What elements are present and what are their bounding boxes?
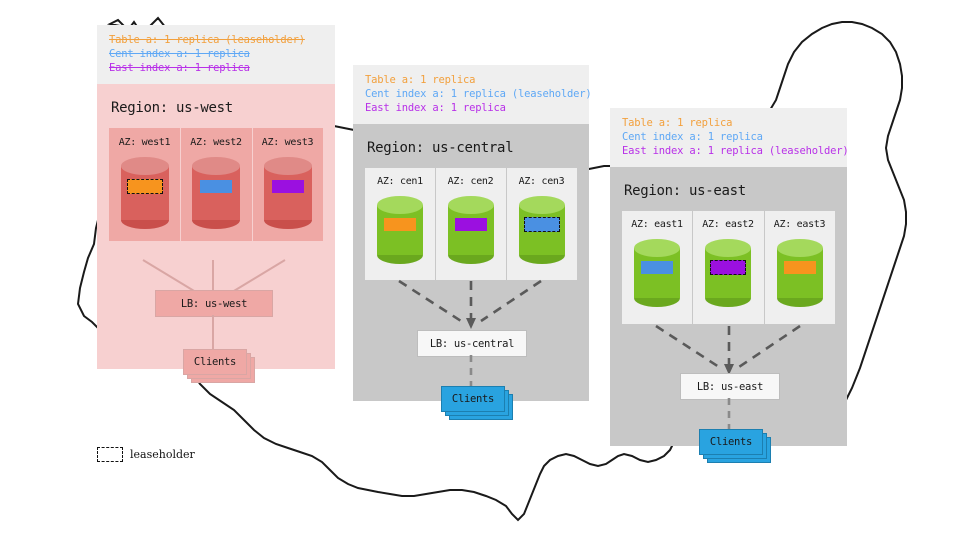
arrowhead: [466, 318, 476, 329]
clients-label: Clients: [710, 436, 752, 448]
az-label-west3: AZ: west3: [262, 137, 314, 148]
lb-to-clients-connector-us-central: [467, 355, 475, 386]
az-container-us-central: AZ: cen1 AZ: cen2 AZ: cen3: [365, 168, 577, 280]
az-label-west2: AZ: west2: [190, 137, 242, 148]
lb-to-clients-connector-us-east: [725, 398, 733, 429]
cylinder-top: [634, 239, 680, 257]
legend-line-east-index-a: East index a: 1 replica (leaseholder): [622, 144, 835, 158]
node-cylinder-east2[interactable]: [705, 239, 751, 307]
az-label-east1: AZ: east1: [631, 219, 683, 230]
az-label-east3: AZ: east3: [774, 219, 826, 230]
replica-chip-east-index-a-leaseholder[interactable]: [710, 260, 746, 275]
clients-stack-us-west[interactable]: Clients: [183, 349, 255, 381]
az-label-cen2: AZ: cen2: [448, 176, 494, 187]
clients-stack-us-central[interactable]: Clients: [441, 386, 513, 418]
cylinder-top: [121, 157, 169, 175]
az-label-west1: AZ: west1: [119, 137, 171, 148]
leaseholder-legend-key: leaseholder: [97, 447, 195, 462]
replica-chip-table-a-leaseholder[interactable]: [127, 179, 163, 194]
legend-line-cent-index-a: Cent index a: 1 replica: [622, 130, 835, 144]
cylinder-top: [192, 157, 240, 175]
region-title-us-central: Region: us-central: [367, 140, 577, 156]
node-cylinder-east3[interactable]: [777, 239, 823, 307]
az-cell-west3: AZ: west3: [252, 128, 323, 241]
clients-box-us-west[interactable]: Clients: [183, 349, 247, 375]
leaseholder-legend-label: leaseholder: [130, 448, 195, 461]
az-label-cen1: AZ: cen1: [377, 176, 423, 187]
replica-chip-east-index-a[interactable]: [455, 218, 487, 231]
load-balancer-label: LB: us-west: [181, 298, 247, 310]
az-cell-west1: AZ: west1: [109, 128, 180, 241]
legend-line-table-a: Table a: 1 replica (leaseholder): [109, 33, 323, 47]
region-title-us-west: Region: us-west: [111, 100, 323, 116]
node-cylinder-west3[interactable]: [264, 157, 312, 229]
region-panel-us-west: Table a: 1 replica (leaseholder) Cent in…: [97, 25, 335, 369]
replica-chip-cent-index-a[interactable]: [200, 180, 232, 193]
load-balancer-label: LB: us-central: [430, 338, 514, 350]
region-panel-us-east: Table a: 1 replica Cent index a: 1 repli…: [610, 108, 847, 446]
load-balancer-us-west[interactable]: LB: us-west: [155, 290, 273, 317]
load-balancer-us-east[interactable]: LB: us-east: [680, 373, 780, 400]
replica-chip-cent-index-a[interactable]: [641, 261, 673, 274]
region-body-us-central: Region: us-central AZ: cen1 AZ: cen2: [353, 124, 589, 401]
az-to-lb-connectors-us-east: [622, 323, 835, 375]
lb-to-clients-connector-us-west: [209, 315, 217, 349]
node-cylinder-cen1[interactable]: [377, 196, 423, 264]
az-label-cen3: AZ: cen3: [519, 176, 565, 187]
cylinder-top: [777, 239, 823, 257]
clients-label: Clients: [194, 356, 236, 368]
region-body-us-east: Region: us-east AZ: east1 AZ: east2: [610, 167, 847, 446]
load-balancer-us-central[interactable]: LB: us-central: [417, 330, 527, 357]
leaseholder-swatch-icon: [97, 447, 123, 462]
node-cylinder-cen3[interactable]: [519, 196, 565, 264]
legend-line-table-a: Table a: 1 replica: [622, 116, 835, 130]
clients-stack-us-east[interactable]: Clients: [699, 429, 771, 461]
cylinder-top: [519, 196, 565, 214]
region-panel-us-central: Table a: 1 replica Cent index a: 1 repli…: [353, 65, 589, 401]
legend-line-cent-index-a: Cent index a: 1 replica (leaseholder): [365, 87, 577, 101]
replica-chip-table-a[interactable]: [384, 218, 416, 231]
az-label-east2: AZ: east2: [702, 219, 754, 230]
load-balancer-label: LB: us-east: [697, 381, 763, 393]
clients-box-us-east[interactable]: Clients: [699, 429, 763, 455]
replica-chip-cent-index-a-leaseholder[interactable]: [524, 217, 560, 232]
legend-line-table-a: Table a: 1 replica: [365, 73, 577, 87]
replica-chip-table-a[interactable]: [784, 261, 816, 274]
clients-label: Clients: [452, 393, 494, 405]
node-cylinder-west2[interactable]: [192, 157, 240, 229]
az-cell-west2: AZ: west2: [180, 128, 252, 241]
legend-line-cent-index-a: Cent index a: 1 replica: [109, 47, 323, 61]
cylinder-top: [705, 239, 751, 257]
az-cell-cen1: AZ: cen1: [365, 168, 435, 280]
az-cell-cen3: AZ: cen3: [506, 168, 577, 280]
cylinder-top: [377, 196, 423, 214]
legend-line-east-index-a: East index a: 1 replica: [365, 101, 577, 115]
node-cylinder-cen2[interactable]: [448, 196, 494, 264]
az-to-lb-connectors-us-central: [365, 279, 577, 329]
cylinder-top: [448, 196, 494, 214]
region-legend-us-central: Table a: 1 replica Cent index a: 1 repli…: [353, 65, 589, 124]
region-body-us-west: Region: us-west AZ: west1 A: [97, 84, 335, 369]
az-container-us-east: AZ: east1 AZ: east2 AZ: east3: [622, 211, 835, 324]
az-cell-cen2: AZ: cen2: [435, 168, 506, 280]
clients-box-us-central[interactable]: Clients: [441, 386, 505, 412]
node-cylinder-east1[interactable]: [634, 239, 680, 307]
region-legend-us-east: Table a: 1 replica Cent index a: 1 repli…: [610, 108, 847, 167]
region-legend-us-west: Table a: 1 replica (leaseholder) Cent in…: [97, 25, 335, 84]
node-cylinder-west1[interactable]: [121, 157, 169, 229]
az-cell-east1: AZ: east1: [622, 211, 692, 324]
az-container-us-west: AZ: west1 AZ: west2 AZ: west3: [109, 128, 323, 241]
legend-line-east-index-a: East index a: 1 replica: [109, 61, 323, 75]
az-cell-east2: AZ: east2: [692, 211, 764, 324]
replica-chip-east-index-a[interactable]: [272, 180, 304, 193]
region-title-us-east: Region: us-east: [624, 183, 835, 199]
cylinder-top: [264, 157, 312, 175]
az-cell-east3: AZ: east3: [764, 211, 835, 324]
